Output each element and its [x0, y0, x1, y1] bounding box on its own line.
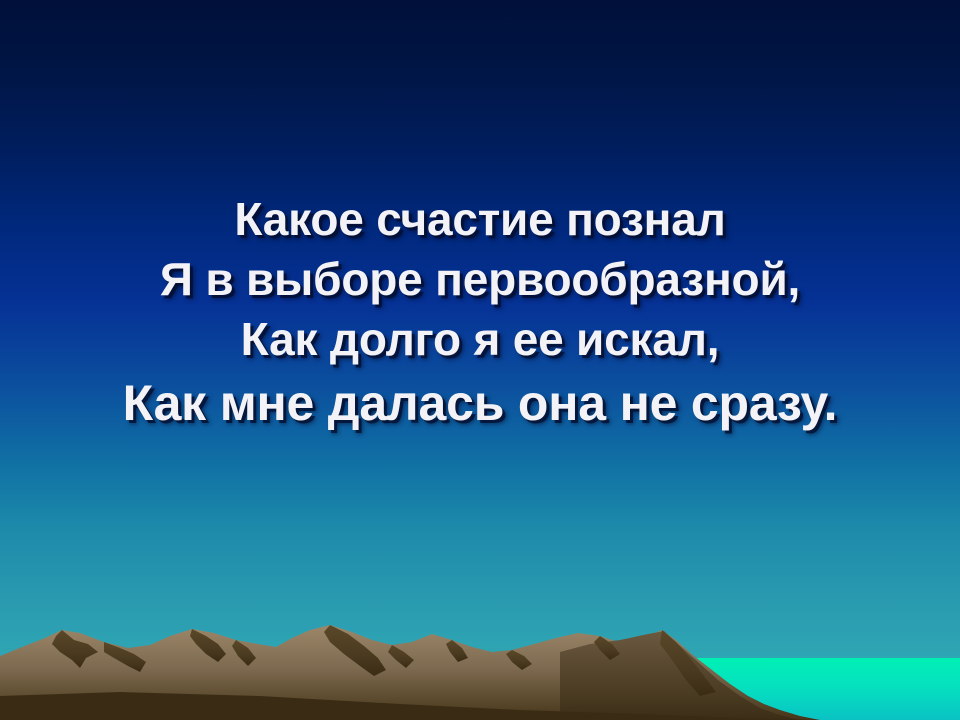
- poem-line-2: Я в выборе первообразной,: [0, 256, 960, 316]
- poem-text-block: Какое счастие познал Я в выборе первообр…: [0, 196, 960, 428]
- mountain-range: [0, 600, 960, 720]
- slide-canvas: Какое счастие познал Я в выборе первообр…: [0, 0, 960, 720]
- poem-line-3: Как долго я ее искал,: [0, 316, 960, 378]
- poem-line-1: Какое счастие познал: [0, 196, 960, 256]
- poem-line-4: Как мне далась она не сразу.: [0, 378, 960, 428]
